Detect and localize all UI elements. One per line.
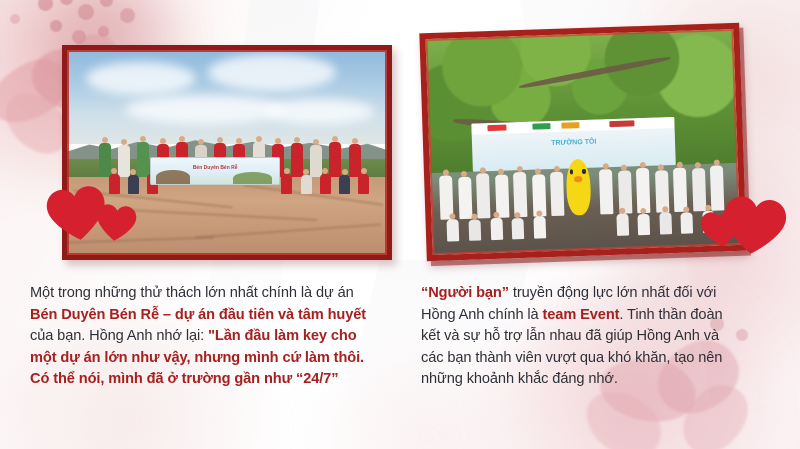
highlighted-text: "Lần đầu làm key cho bbox=[208, 328, 356, 344]
person bbox=[636, 168, 650, 213]
slide-canvas: Bén Duyên Bén Rễ bbox=[0, 0, 800, 449]
body-text: Hồng Anh chính là bbox=[421, 307, 543, 323]
paragraph-line: Bén Duyên Bén Rễ – dự án đầu tiên và tâm… bbox=[30, 305, 410, 327]
person bbox=[513, 172, 527, 217]
highlighted-text: team Event bbox=[543, 307, 620, 323]
photo-right-frame[interactable]: TRƯỜNG TÔI bbox=[419, 23, 746, 261]
paragraph-line: các bạn thành viên vượt qua khó khăn, tạ… bbox=[421, 348, 791, 370]
person bbox=[490, 218, 503, 240]
person bbox=[476, 174, 490, 219]
person bbox=[468, 219, 481, 240]
paragraph-line: những khoảnh khắc đáng nhớ. bbox=[421, 369, 791, 391]
highlighted-text: Có thể nói, mình đã ở trường gần như “24… bbox=[30, 371, 338, 387]
person bbox=[310, 145, 322, 177]
story-paragraph-right: “Người bạn” truyền động lực lớn nhất đối… bbox=[421, 283, 791, 391]
project-banner: Bén Duyên Bén Rễ bbox=[150, 157, 280, 186]
person bbox=[681, 212, 694, 233]
person bbox=[447, 219, 460, 241]
body-text: Một trong những thử thách lớn nhất chính… bbox=[30, 285, 354, 301]
paragraph-line: của bạn. Hồng Anh nhớ lại: "Lần đầu làm … bbox=[30, 326, 410, 348]
person bbox=[128, 175, 139, 194]
body-text: của bạn. Hồng Anh nhớ lại: bbox=[30, 328, 208, 344]
cloud-2 bbox=[208, 54, 336, 91]
cloud-4 bbox=[265, 99, 374, 124]
paragraph-line: một dự án lớn như vậy, nhưng mình cứ làm… bbox=[30, 348, 410, 370]
paragraph-line: “Người bạn” truyền động lực lớn nhất đối… bbox=[421, 283, 791, 305]
body-text: . Tinh thần đoàn bbox=[619, 307, 722, 323]
person bbox=[358, 174, 369, 194]
person bbox=[599, 169, 613, 214]
person bbox=[616, 214, 629, 236]
body-text: kết và sự hỗ trợ lẫn nhau đã giúp Hồng A… bbox=[421, 328, 719, 344]
story-paragraph-left: Một trong những thử thách lớn nhất chính… bbox=[30, 283, 410, 391]
person bbox=[533, 216, 546, 238]
person bbox=[692, 168, 706, 211]
paragraph-line: Có thể nói, mình đã ở trường gần như “24… bbox=[30, 369, 410, 391]
person bbox=[349, 144, 361, 177]
person bbox=[339, 175, 350, 194]
person bbox=[659, 212, 672, 234]
heart-left-small bbox=[93, 202, 139, 244]
person bbox=[550, 172, 564, 216]
photo-right-wrapper: TRƯỜNG TÔI bbox=[419, 23, 746, 261]
person bbox=[301, 175, 312, 194]
person bbox=[291, 143, 303, 177]
highlighted-text: “Người bạn” bbox=[421, 285, 509, 301]
person bbox=[137, 142, 149, 177]
person bbox=[281, 174, 292, 194]
person bbox=[109, 174, 120, 194]
paragraph-line: Hồng Anh chính là team Event. Tinh thần … bbox=[421, 305, 791, 327]
project-banner-text: Bén Duyên Bén Rễ bbox=[193, 165, 238, 171]
person bbox=[512, 218, 525, 239]
person bbox=[320, 174, 331, 194]
person bbox=[458, 177, 472, 219]
photo-right-image: TRƯỜNG TÔI bbox=[426, 29, 741, 255]
person bbox=[99, 143, 111, 177]
crowd-row-standing bbox=[429, 141, 739, 220]
person bbox=[329, 142, 341, 177]
body-text: các bạn thành viên vượt qua khó khăn, tạ… bbox=[421, 350, 722, 366]
body-text: truyền động lực lớn nhất đối với bbox=[509, 285, 716, 301]
paragraph-line: kết và sự hỗ trợ lẫn nhau đã giúp Hồng A… bbox=[421, 326, 791, 348]
highlighted-text: một dự án lớn như vậy, nhưng mình cứ làm… bbox=[30, 350, 364, 366]
person bbox=[118, 145, 130, 177]
cloud-1 bbox=[86, 62, 195, 95]
body-text: những khoảnh khắc đáng nhớ. bbox=[421, 371, 618, 387]
cloud-3 bbox=[125, 95, 285, 124]
heart-right-big bbox=[718, 192, 791, 260]
highlighted-text: Bén Duyên Bén Rễ – dự án đầu tiên và tâm… bbox=[30, 307, 366, 323]
paragraph-line: Một trong những thử thách lớn nhất chính… bbox=[30, 283, 410, 305]
person bbox=[638, 214, 651, 235]
